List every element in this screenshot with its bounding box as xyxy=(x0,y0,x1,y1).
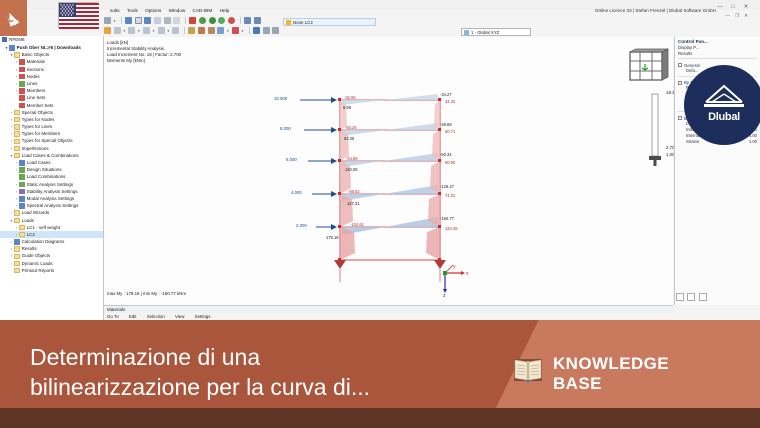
navigator-item-line-sets[interactable]: Line Sets xyxy=(0,94,103,101)
moment-label-left-4: 63.25 xyxy=(344,136,354,141)
us-flag-icon xyxy=(58,2,98,28)
banner-title: Determinazione di una bilinearizzazione … xyxy=(30,342,470,402)
navigator-item-label: Load Combinations xyxy=(27,174,66,179)
folder-icon xyxy=(14,146,20,152)
navigator-item-types-for-members[interactable]: ›Types for Members xyxy=(0,130,103,137)
moment-label-right-3: -48.69 xyxy=(440,122,452,127)
navigator-root-label: RFEM6 xyxy=(9,37,25,42)
menu-item-window[interactable]: Window xyxy=(169,8,186,13)
navigator-item-design-situations[interactable]: ›Design Situations xyxy=(0,166,103,173)
navigator-item-nodes[interactable]: ›Nodes xyxy=(0,73,103,80)
control-panel-title: Control Pan... xyxy=(675,37,760,45)
toolbar-separator xyxy=(121,17,122,24)
navigator-item-label: Design Situations xyxy=(27,167,62,172)
bottom-menu-edit[interactable]: Edit xyxy=(129,314,137,319)
navigator-item-label: Materials xyxy=(27,59,45,64)
surface-tool-icon[interactable] xyxy=(143,27,150,34)
view-wire-icon[interactable] xyxy=(154,17,161,24)
coordinate-system-value: 1 - Global XYZ xyxy=(471,30,499,35)
moment-label-left-10: 179.18 xyxy=(326,235,339,240)
globe-right-icon[interactable] xyxy=(228,17,235,24)
tab-materials[interactable]: Materials xyxy=(107,307,125,312)
folder-icon xyxy=(14,254,20,260)
knowledge-base-line-2: BASE xyxy=(553,374,669,394)
moment-label-right-6: 60.50 xyxy=(445,160,455,165)
model-canvas[interactable]: Loads [kN] Incremental Stability Analysi… xyxy=(104,37,673,305)
dlubal-frame-icon xyxy=(702,82,746,108)
arrow-down-right-icon xyxy=(6,10,20,28)
application-window: Online Licence 33 | Stefan Frenzel | Dlu… xyxy=(0,0,760,320)
axis-triad: x y z xyxy=(439,265,469,297)
moment-label-right-7: -128.47 xyxy=(440,184,454,189)
load-case-combo-value: None LC2 xyxy=(293,20,313,25)
folder-icon xyxy=(14,139,20,145)
line-sets-icon xyxy=(19,95,25,101)
moment-label-right-8: 74.01 xyxy=(445,193,455,198)
select-icon[interactable] xyxy=(104,27,111,34)
navigator-item-label: Spectral Analysis Settings xyxy=(27,203,79,208)
navigator-item-dynamic-loads[interactable]: ›Dynamic Loads xyxy=(0,260,103,267)
view-solid-icon[interactable] xyxy=(144,17,151,24)
by-member-item-value: 1.00 xyxy=(749,139,757,145)
moment-label-right-4: 50.71 xyxy=(445,129,455,134)
undo-icon[interactable] xyxy=(104,17,111,24)
nodal-load-caret-icon[interactable]: ▾ xyxy=(242,29,244,33)
folder-icon xyxy=(14,268,20,274)
navigator-item-label: Types for Nodes xyxy=(22,117,55,122)
navigator-item-label: Members xyxy=(27,88,46,93)
moment-label-right-10: 134.45 xyxy=(445,226,458,231)
folder-icon xyxy=(19,232,25,238)
navigator-item-label: Printout Reports xyxy=(22,268,55,273)
navigator-project-row[interactable]: ▾Push Ober NL;#6 | Downloads xyxy=(0,44,103,51)
menu-item-tools[interactable]: Tools xyxy=(127,8,138,13)
node-caret-icon[interactable]: ▾ xyxy=(123,29,125,33)
diagram2-icon[interactable] xyxy=(254,17,261,24)
moment-label-left-7: -88.52 xyxy=(348,189,360,194)
navigator-item-label: Types for Lines xyxy=(22,124,53,129)
tab-results[interactable]: Results xyxy=(678,51,757,57)
navigator-item-basic-objects[interactable]: ▾Basic Objects xyxy=(0,51,103,58)
brand-strip xyxy=(0,0,27,36)
design-situations-icon xyxy=(19,167,25,173)
spectral-analysis-icon xyxy=(19,203,25,209)
navigator-item-label: LC1 - self weight xyxy=(27,225,61,230)
menu-item-cad-bim[interactable]: CAD-BIM xyxy=(193,8,213,13)
view-side-icon[interactable] xyxy=(699,293,707,301)
modal-analysis-icon xyxy=(19,196,25,202)
materials-icon xyxy=(19,59,25,65)
window-maximize-button[interactable]: □ xyxy=(727,4,739,10)
bottom-menu-view[interactable]: View xyxy=(175,314,184,319)
navigator-item-label: Modal Analysis Settings xyxy=(27,196,75,201)
navigator-tree-list[interactable]: ▾Basic Objects›Materials›Sections›Nodes›… xyxy=(0,51,103,274)
moment-label-right-9: -160.77 xyxy=(440,216,454,221)
rfem-icon xyxy=(2,37,7,42)
nodal-load-icon[interactable] xyxy=(232,27,239,34)
divider xyxy=(678,58,757,59)
view-front-icon[interactable] xyxy=(676,293,684,301)
moment-label-left-9: -134.61 xyxy=(350,222,364,227)
coordinate-system-combo[interactable]: 1 - Global XYZ xyxy=(461,28,531,36)
navigator-item-types-for-special-objects[interactable]: ›Types for Special Objects xyxy=(0,137,103,144)
menu-item-help[interactable]: Help xyxy=(220,8,230,13)
bottom-menu-bar[interactable]: Go To Edit Selection View Settings xyxy=(104,313,673,320)
navigator-item-modal-analysis-settings[interactable]: ›Modal Analysis Settings xyxy=(0,195,103,202)
navigator-item-label: Results xyxy=(22,246,37,251)
moment-label-left-6: 140.05 xyxy=(345,167,358,172)
navigator-item-loads[interactable]: ▾Loads xyxy=(0,217,103,224)
navigator-item-static-analysis-settings[interactable]: ›Static Analysis Settings xyxy=(0,181,103,188)
navigator-item-imperfections[interactable]: ›Imperfections xyxy=(0,145,103,152)
globe-alt-icon[interactable] xyxy=(209,17,216,24)
navigator-item-label: Stability Analysis Settings xyxy=(27,189,78,194)
bottom-menu-go-to[interactable]: Go To xyxy=(107,314,119,319)
menu-item-results[interactable]: sults xyxy=(110,8,120,13)
navigator-item-members[interactable]: ›Members xyxy=(0,87,103,94)
navigator-item-label: Load Cases xyxy=(27,160,51,165)
knowledge-base-line-1: KNOWLEDGE xyxy=(553,354,669,374)
general-default-label: Defa... xyxy=(686,68,698,73)
folder-icon xyxy=(14,52,20,58)
moment-label-left-3: -50.26 xyxy=(345,125,357,130)
toolbar-separator xyxy=(249,27,250,34)
load-combinations-icon xyxy=(19,174,25,180)
node-tool-icon[interactable] xyxy=(114,27,121,34)
folder-icon xyxy=(19,225,25,231)
navigator-item-load-combinations[interactable]: Load Combinations xyxy=(0,173,103,180)
toolbar-secondary[interactable]: ▾ ▾ ▾ ▾ ▾ ▾ xyxy=(104,27,760,37)
toolbar-separator xyxy=(240,17,241,24)
window-minimize-button[interactable]: — xyxy=(714,4,726,10)
banner-bottom-bar xyxy=(0,408,760,428)
line-caret-icon[interactable]: ▾ xyxy=(138,29,140,33)
navigator-item-types-for-lines[interactable]: ›Types for Lines xyxy=(0,123,103,130)
banner-title-line-2: bilinearizzazione per la curva di... xyxy=(30,372,470,402)
moment-label-left-1: -32.96 xyxy=(344,95,356,100)
static-analysis-icon xyxy=(19,182,25,188)
navigator-item-lc2[interactable]: ›LC2 xyxy=(0,231,103,238)
nodes-icon xyxy=(19,74,25,80)
calculate-icon[interactable] xyxy=(189,17,196,24)
bottom-menu-settings[interactable]: Settings xyxy=(195,314,211,319)
project-icon xyxy=(9,45,15,51)
undo-caret-icon[interactable]: ▾ xyxy=(114,19,116,23)
line-tool-icon[interactable] xyxy=(128,27,135,34)
mesh-icon[interactable] xyxy=(272,27,279,34)
open-book-icon xyxy=(513,356,543,384)
print-icon[interactable] xyxy=(164,17,171,24)
folder-icon xyxy=(14,153,20,159)
knowledge-base-label: KNOWLEDGE BASE xyxy=(553,354,669,394)
navigator-item-label: LC2 xyxy=(27,232,35,237)
report-icon[interactable] xyxy=(173,17,180,24)
navigator-item-label: Special Objects xyxy=(22,110,53,115)
navigator-item-label: Calculation Diagrams xyxy=(22,239,65,244)
navigator-root[interactable]: RFEM6 xyxy=(0,36,103,44)
navigator-item-results[interactable]: ›Results xyxy=(0,245,103,252)
moment-label-left-2: 6.99 xyxy=(343,105,351,110)
load-caret-icon[interactable]: ▾ xyxy=(227,29,229,33)
by-member-item-label: Strains xyxy=(686,139,699,144)
view-grid-icon[interactable] xyxy=(125,17,132,24)
globe-icon[interactable] xyxy=(199,17,206,24)
surface-caret-icon[interactable]: ▾ xyxy=(153,29,155,33)
menu-bar[interactable]: sults Tools Options Window CAD-BIM Help xyxy=(110,8,235,17)
moment-label-right-5: -60.34 xyxy=(440,152,452,157)
navigator-item-label: Line Sets xyxy=(27,95,46,100)
bracket-icon[interactable] xyxy=(263,27,270,34)
navigator-item-label: Load Cases & Combinations xyxy=(22,153,79,158)
coordinate-system-icon xyxy=(464,30,469,35)
moment-label-right-2: 34.32 xyxy=(445,99,455,104)
navigator-item-label: Types for Special Objects xyxy=(22,138,73,143)
window-close-button[interactable]: ✕ xyxy=(740,4,752,10)
load-label-4: 4.000 xyxy=(291,190,302,195)
navigator-item-load-wizards[interactable]: ›Load Wizards xyxy=(0,209,103,216)
menu-item-options[interactable]: Options xyxy=(145,8,161,13)
navigator-item-label: Loads xyxy=(22,218,34,223)
navigator-item-sections[interactable]: ›Sections xyxy=(0,66,103,73)
view-top-icon[interactable] xyxy=(687,293,695,301)
load-label-3: 6.000 xyxy=(286,157,297,162)
navigator-item-materials[interactable]: ›Materials xyxy=(0,58,103,65)
toolbar-primary[interactable]: ▾ xyxy=(104,17,760,27)
calc-diagrams-icon xyxy=(14,239,20,245)
navigator-item-label: Guide Objects xyxy=(22,253,51,258)
sections-icon xyxy=(19,67,25,73)
dlubal-wordmark: Dlubal xyxy=(684,111,760,123)
folder-icon xyxy=(14,218,20,224)
solid-tool-icon[interactable] xyxy=(158,27,165,34)
navigator-item-load-cases[interactable]: ›Load Cases xyxy=(0,159,103,166)
load-cases-icon xyxy=(19,160,25,166)
panel-view-buttons[interactable] xyxy=(676,293,716,305)
navigator-item-label: Static Analysis Settings xyxy=(27,182,74,187)
navigator-item-lines[interactable]: ›Lines xyxy=(0,80,103,87)
load-label-5: 2.000 xyxy=(296,223,307,228)
navigator-item-load-cases-combinations[interactable]: ▾Load Cases & Combinations xyxy=(0,152,103,159)
banner-title-line-1: Determinazione di una xyxy=(30,342,470,372)
bottom-menu-selection[interactable]: Selection xyxy=(147,314,165,319)
navigator-item-label: Imperfections xyxy=(22,146,49,151)
navigator-item-spectral-analysis-settings[interactable]: ›Spectral Analysis Settings xyxy=(0,202,103,209)
load-case-color-swatch xyxy=(286,20,291,25)
svg-text:y: y xyxy=(453,265,456,270)
navigator-item-types-for-nodes[interactable]: ›Types for Nodes xyxy=(0,116,103,123)
navigator-item-stability-analysis-settings[interactable]: ›Stability Analysis Settings xyxy=(0,188,103,195)
hinge-icon[interactable] xyxy=(198,27,205,34)
svg-text:x: x xyxy=(466,271,469,277)
control-panel[interactable]: Control Pan... Display P... Results Gene… xyxy=(674,37,760,305)
diagram-icon[interactable] xyxy=(244,17,251,24)
view-cube[interactable] xyxy=(628,48,672,86)
navigator-item-label: Basic Objects xyxy=(22,52,50,57)
globe-left-icon[interactable] xyxy=(218,17,225,24)
folder-icon xyxy=(14,246,20,252)
members-icon xyxy=(19,88,25,94)
member-sets-icon xyxy=(19,103,25,109)
folder-icon xyxy=(14,210,20,216)
load-icon[interactable] xyxy=(217,27,224,34)
navigator-item-label: Dynamic Loads xyxy=(22,261,53,266)
moment-label-left-8: 147.31 xyxy=(347,201,360,206)
navigator-item-label: Sections xyxy=(27,67,44,72)
load-label-1: 10.000 xyxy=(274,96,287,101)
control-panel-tabs[interactable]: Display P... Results xyxy=(675,45,760,56)
toolbar-separator xyxy=(185,17,186,24)
load-case-combo[interactable]: None LC2 xyxy=(283,18,376,26)
folder-icon xyxy=(14,110,20,116)
project-navigator[interactable]: RFEM6 ▾Push Ober NL;#6 | Downloads ▾Basi… xyxy=(0,36,104,320)
svg-text:z: z xyxy=(443,293,446,297)
anchor-icon[interactable] xyxy=(253,27,260,34)
structural-frame-diagram xyxy=(104,37,673,305)
load-label-2: 8.000 xyxy=(280,126,291,131)
support-icon[interactable] xyxy=(188,27,195,34)
navigator-item-label: Member Sets xyxy=(27,103,54,108)
navigator-item-label: Nodes xyxy=(27,74,40,79)
toolbar-separator xyxy=(184,27,185,34)
navigator-item-calculation-diagrams[interactable]: ›Calculation Diagrams xyxy=(0,238,103,245)
folder-icon xyxy=(14,261,20,267)
release-icon[interactable] xyxy=(208,27,215,34)
navigator-item-label: Lines xyxy=(27,81,38,86)
navigator-item-special-objects[interactable]: ›Special Objects xyxy=(0,109,103,116)
moment-label-right-1: -34.27 xyxy=(440,92,452,97)
stability-analysis-icon xyxy=(19,189,25,195)
navigator-item-guide-objects[interactable]: ›Guide Objects xyxy=(0,252,103,259)
navigator-item-label: Load Wizards xyxy=(22,210,50,215)
folder-icon xyxy=(14,131,20,137)
license-info: Online Licence 33 | Stefan Frenzel | Dlu… xyxy=(595,8,716,13)
navigator-project-label: Push Ober NL;#6 | Downloads xyxy=(17,45,81,50)
navigator-item-member-sets[interactable]: Member Sets xyxy=(0,102,103,109)
navigator-item-label: Types for Members xyxy=(22,131,61,136)
lines-icon xyxy=(19,81,25,87)
bottom-tab-bar[interactable]: Materials xyxy=(104,305,673,313)
load-factor-slider[interactable] xyxy=(648,92,662,167)
view-render-icon[interactable] xyxy=(135,17,142,24)
folder-icon xyxy=(14,124,20,130)
solid-caret-icon[interactable]: ▾ xyxy=(167,29,169,33)
member-tool-icon[interactable] xyxy=(172,27,179,34)
dlubal-logo-badge: Dlubal xyxy=(684,65,760,145)
navigator-item-printout-reports[interactable]: Printout Reports xyxy=(0,267,103,274)
navigator-item-lc1-self-weight[interactable]: ›LC1 - self weight xyxy=(0,224,103,231)
folder-icon xyxy=(14,117,20,123)
moment-label-left-5: -54.86 xyxy=(346,156,358,161)
